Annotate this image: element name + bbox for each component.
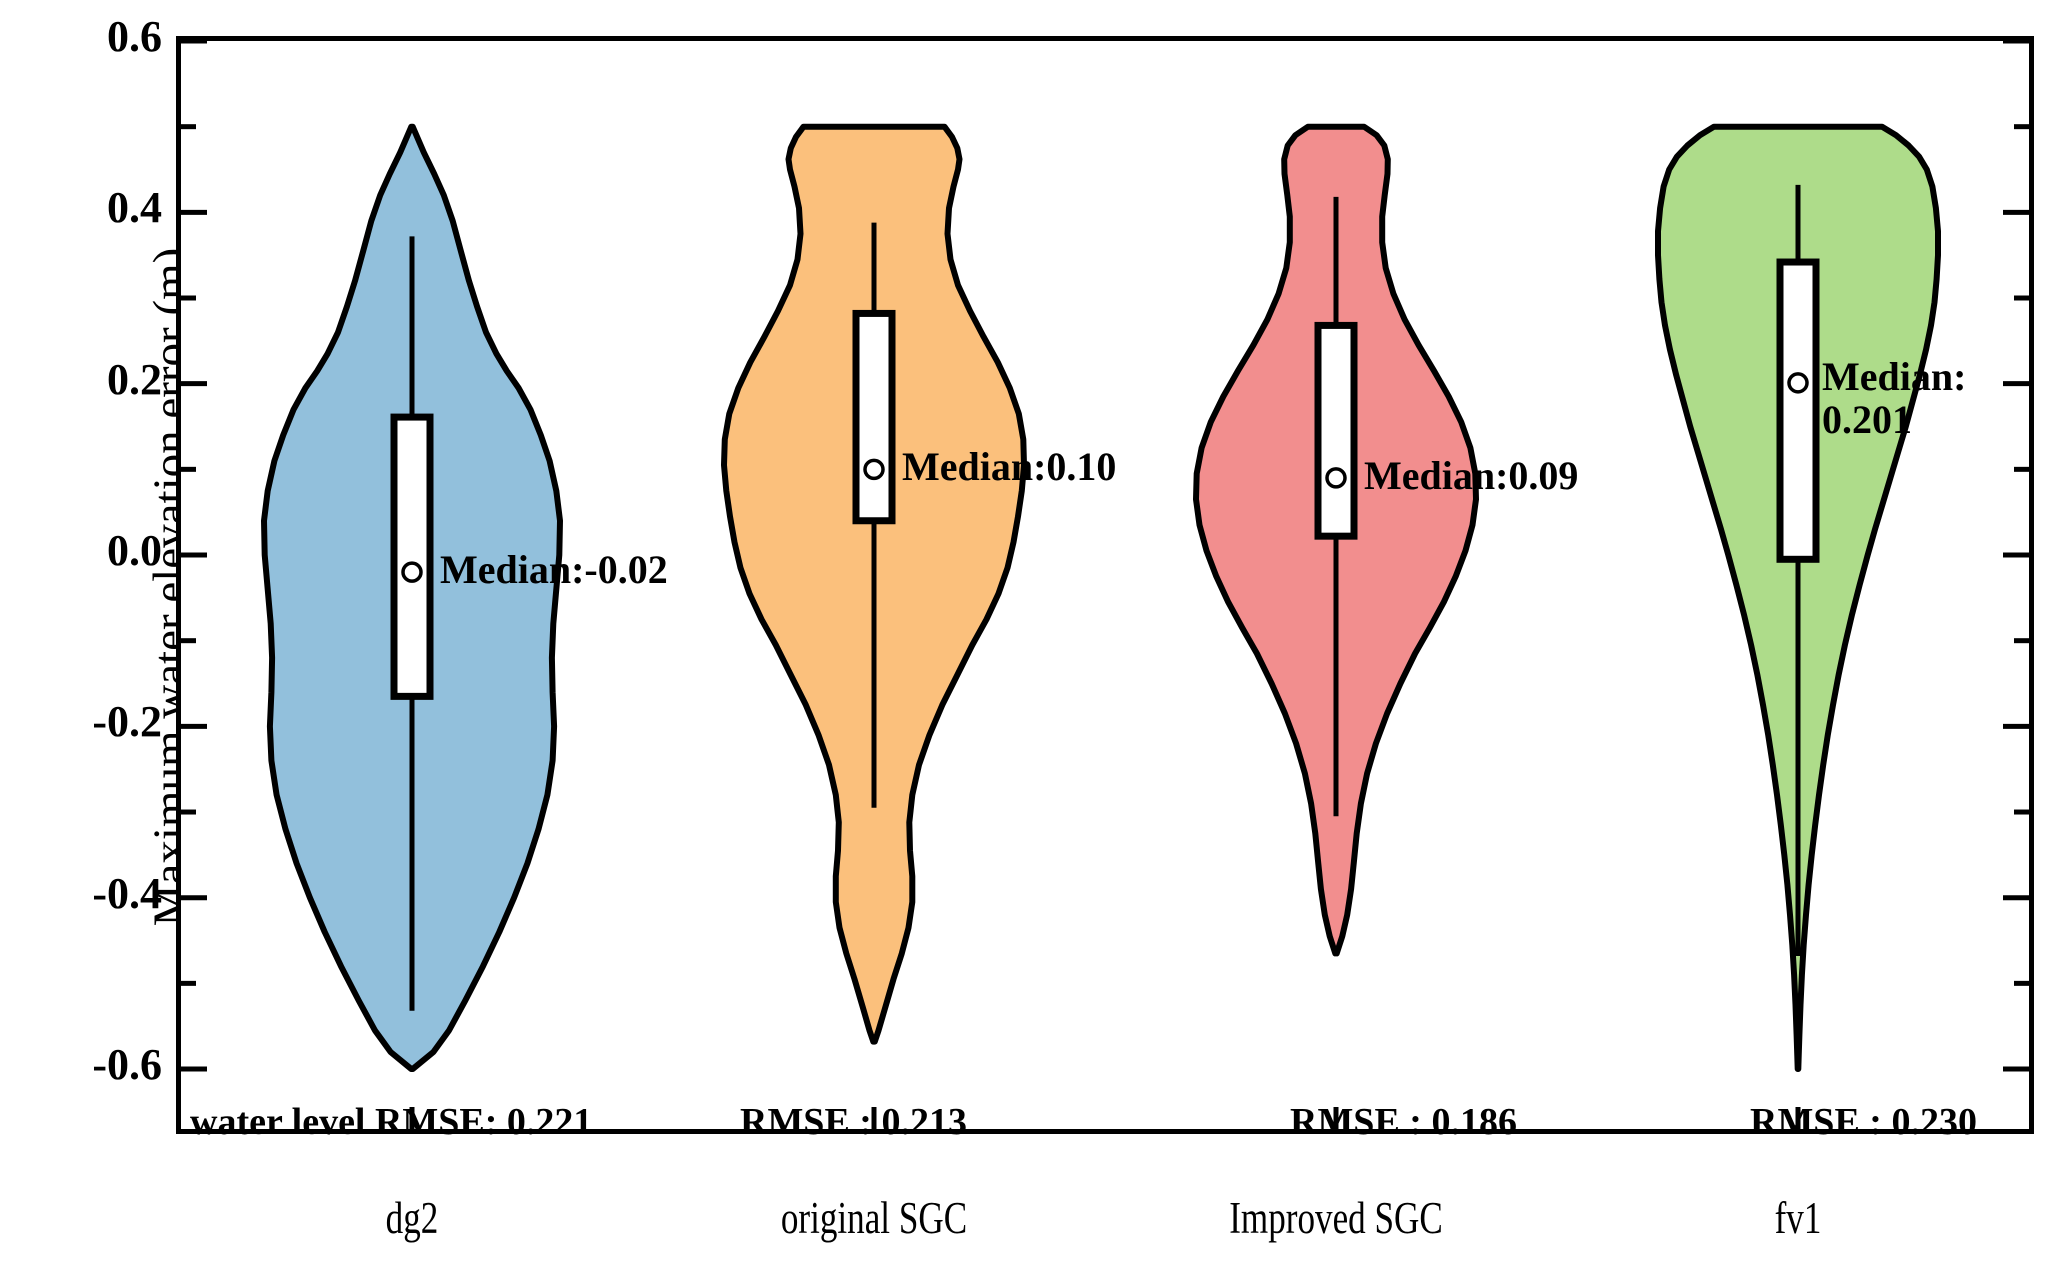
median-label-fv1: Median:0.201 (1822, 355, 1966, 441)
rmse-label-dg2: water level RMSE: 0.221 (190, 1100, 592, 1144)
x-tick-label-dg2: dg2 (217, 1192, 607, 1244)
y-tick-label: 0.4 (22, 186, 162, 230)
y-tick-label: -0.2 (22, 700, 162, 744)
y-tick-label: 0.2 (22, 358, 162, 402)
y-axis-tick-labels: 0.60.40.20.0-0.2-0.4-0.6 (0, 0, 162, 1288)
x-ticks (412, 1107, 1798, 1129)
y-tick-label: -0.4 (22, 872, 162, 916)
median-label-line2: 0.201 (1822, 398, 1966, 441)
y-tick-label: -0.6 (22, 1043, 162, 1087)
x-tick-label-original-sgc: original SGC (679, 1192, 1069, 1244)
y-tick-label: 0.6 (22, 15, 162, 59)
x-tick-label-fv1: fv1 (1603, 1192, 1993, 1244)
x-tick-label-improved-sgc: Improved SGC (1141, 1192, 1531, 1244)
violin-dg2 (264, 127, 560, 1069)
rmse-label-original-sgc: RMSE : 0.213 (740, 1100, 967, 1144)
violin-original-sgc (724, 127, 1024, 1042)
violin-improved-sgc (1196, 127, 1476, 954)
violin-fv1 (1658, 127, 1938, 1069)
rmse-label-fv1: RMSE : 0.230 (1750, 1100, 1977, 1144)
median-label-improved-sgc: Median:0.09 (1364, 454, 1578, 497)
median-label-dg2: Median:-0.02 (440, 548, 668, 591)
median-label-line1: Median: (1822, 355, 1966, 398)
y-tick-label: 0.0 (22, 529, 162, 573)
rmse-label-improved-sgc: RMSE : 0.186 (1290, 1100, 1517, 1144)
violin-plot-figure: Maximum water elevation error (m) 0.60.4… (0, 0, 2067, 1288)
median-label-original-sgc: Median:0.10 (902, 445, 1116, 488)
